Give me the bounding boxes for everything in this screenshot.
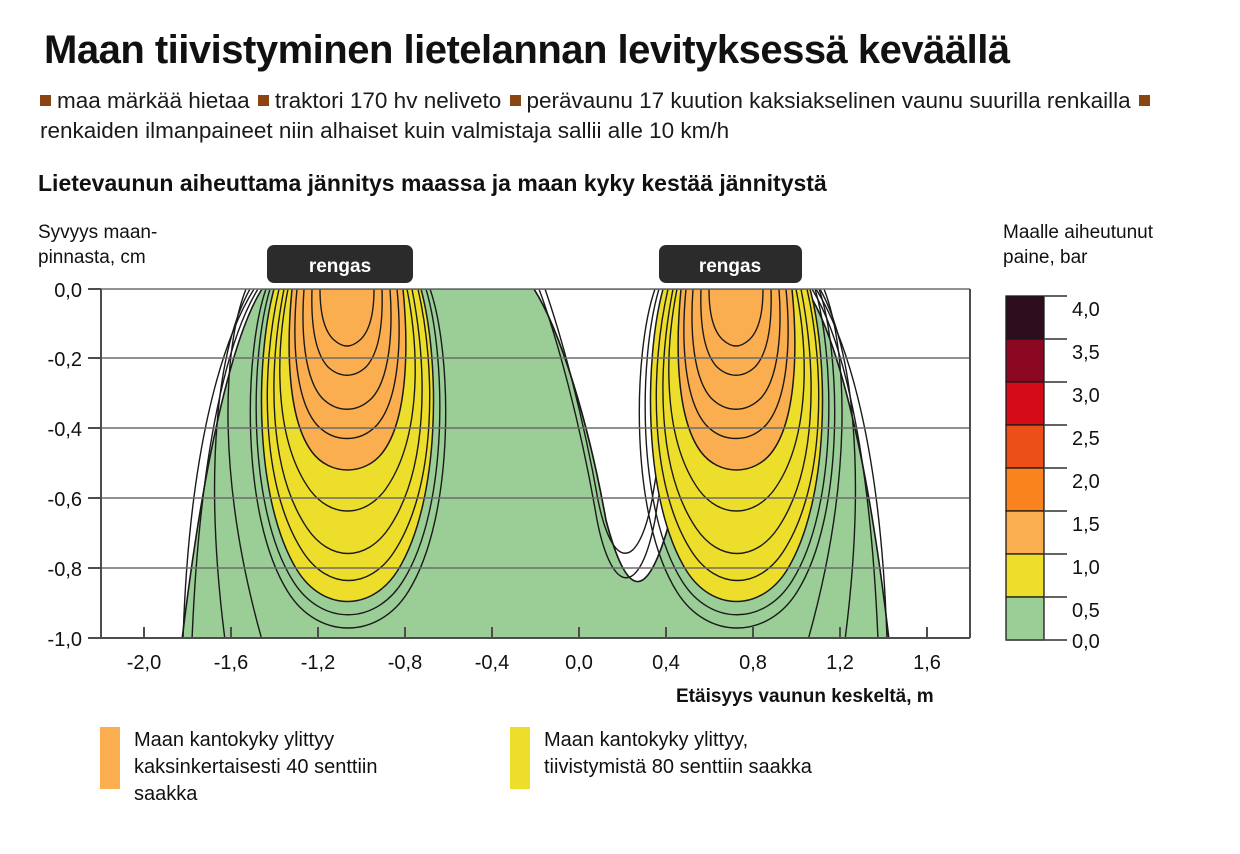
- contour-band-orange-right: [678, 289, 795, 470]
- x-tick-labels: -2,0 -1,6 -1,2 -0,8 -0,4 0,0 0,4 0,8 1,2…: [127, 652, 941, 674]
- bottom-legend: Maan kantokyky ylittyy kaksinkertaisesti…: [100, 727, 834, 808]
- colorbar-tick-8: 0,0: [1072, 631, 1100, 653]
- y-tick-4: -0,8: [48, 559, 82, 581]
- y-tick-labels: 0,0 -0,2 -0,4 -0,6 -0,8 -1,0: [48, 280, 82, 651]
- y-tick-marks: [88, 289, 101, 638]
- contour-bands-group: [182, 289, 889, 640]
- x-tick-0: -2,0: [127, 652, 161, 674]
- y-tick-0: 0,0: [54, 280, 82, 302]
- colorbar-tick-3: 2,5: [1072, 428, 1100, 450]
- colorbar-band-3.0-3.5: [1006, 339, 1044, 382]
- infographic-page: Maan tiivistyminen lietelannan levitykse…: [0, 0, 1240, 854]
- colorbar-band-2.0-2.5: [1006, 425, 1044, 468]
- x-tick-5: 0,0: [565, 652, 593, 674]
- colorbar-tick-0: 4,0: [1072, 299, 1100, 321]
- contour-chart-svg: 0,0 -0,2 -0,4 -0,6 -0,8 -1,0 -2,0 -1,6 -…: [0, 0, 1240, 854]
- colorbar-band-0.0-0.5: [1006, 597, 1044, 640]
- wheel-track-left-label: rengas: [309, 256, 371, 277]
- y-tick-3: -0,6: [48, 489, 82, 511]
- colorbar-tick-4: 2,0: [1072, 471, 1100, 493]
- legend-swatch-yellow: [510, 727, 530, 789]
- wheel-track-right-label: rengas: [699, 256, 761, 277]
- colorbar-band-1.5-2.0: [1006, 468, 1044, 511]
- x-tick-1: -1,6: [214, 652, 248, 674]
- x-tick-4: -0,4: [475, 652, 509, 674]
- colorbar-band-0.5-1.0: [1006, 554, 1044, 597]
- colorbar-tick-5: 1,5: [1072, 514, 1100, 536]
- x-tick-8: 1,2: [826, 652, 854, 674]
- y-tick-2: -0,4: [48, 419, 82, 441]
- legend-label-orange: Maan kantokyky ylittyy kaksinkertaisesti…: [134, 727, 424, 808]
- colorbar-tick-6: 1,0: [1072, 557, 1100, 579]
- legend-item-yellow: Maan kantokyky ylittyy, tiivistymistä 80…: [510, 727, 834, 808]
- wheel-track-marker-right: rengas: [659, 245, 802, 283]
- colorbar-tick-2: 3,0: [1072, 385, 1100, 407]
- x-tick-9: 1,6: [913, 652, 941, 674]
- x-tick-2: -1,2: [301, 652, 335, 674]
- legend-item-orange: Maan kantokyky ylittyy kaksinkertaisesti…: [100, 727, 424, 808]
- colorbar-tick-labels: 4,0 3,5 3,0 2,5 2,0 1,5 1,0 0,5 0,0: [1072, 299, 1100, 653]
- legend-label-yellow: Maan kantokyky ylittyy, tiivistymistä 80…: [544, 727, 834, 781]
- x-tick-6: 0,4: [652, 652, 680, 674]
- colorbar-tick-1: 3,5: [1072, 342, 1100, 364]
- pressure-colorbar: 4,0 3,5 3,0 2,5 2,0 1,5 1,0 0,5 0,0: [1006, 296, 1100, 653]
- chart-plot-area: 0,0 -0,2 -0,4 -0,6 -0,8 -1,0 -2,0 -1,6 -…: [0, 0, 1240, 854]
- y-tick-1: -0,2: [48, 349, 82, 371]
- wheel-track-marker-left: rengas: [267, 245, 413, 283]
- colorbar-band-3.5-4.0: [1006, 296, 1044, 339]
- x-tick-7: 0,8: [739, 652, 767, 674]
- colorbar-band-1.0-1.5: [1006, 511, 1044, 554]
- colorbar-tick-7: 0,5: [1072, 600, 1100, 622]
- legend-swatch-orange: [100, 727, 120, 789]
- colorbar-band-2.5-3.0: [1006, 382, 1044, 425]
- y-tick-5: -1,0: [48, 629, 82, 651]
- x-tick-3: -0,8: [388, 652, 422, 674]
- contour-band-orange-left: [289, 289, 406, 470]
